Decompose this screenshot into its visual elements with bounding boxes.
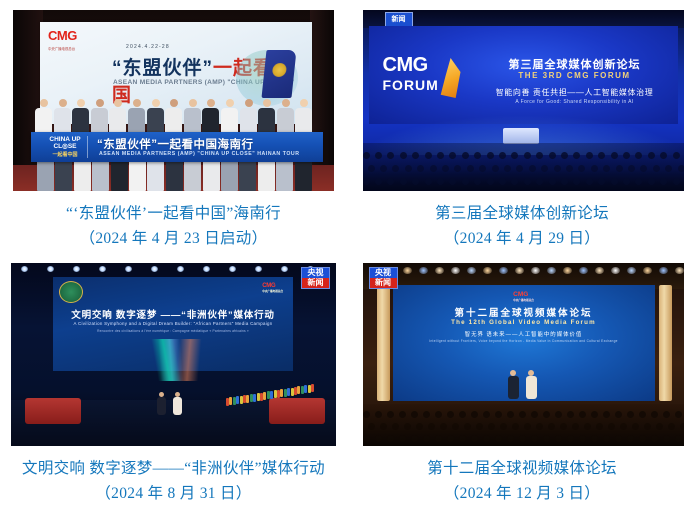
audience-head bbox=[555, 411, 562, 418]
audience-head bbox=[596, 423, 603, 430]
cmg-forum-logo-line2: FORUM bbox=[383, 77, 439, 93]
audience-head bbox=[639, 411, 646, 418]
audience-head bbox=[488, 423, 495, 430]
host-silhouette bbox=[508, 370, 519, 400]
audience-head bbox=[416, 423, 423, 430]
audience-head bbox=[400, 178, 407, 185]
audience-head bbox=[499, 152, 506, 159]
ceiling-lamp bbox=[435, 267, 444, 274]
audience-head bbox=[639, 435, 646, 442]
flag-dot bbox=[280, 389, 283, 397]
audience-head bbox=[428, 423, 435, 430]
led-screen: CMG 中央广播电视总台 第十二届全球视频媒体论坛 The 12th Globa… bbox=[393, 285, 655, 401]
audience-head bbox=[375, 435, 382, 442]
audience-silhouettes bbox=[363, 143, 684, 191]
audience-head bbox=[675, 411, 682, 418]
audience-head bbox=[579, 411, 586, 418]
audience-head bbox=[363, 435, 370, 442]
audience-head bbox=[437, 178, 444, 185]
audience-head bbox=[598, 152, 605, 159]
audience-head bbox=[512, 423, 519, 430]
audience-head bbox=[392, 423, 399, 430]
cmg-logo-subtext: 中央广播电视总台 bbox=[48, 43, 90, 56]
audience-head bbox=[640, 165, 647, 172]
stage-lamp bbox=[203, 266, 210, 272]
audience-head bbox=[507, 435, 514, 442]
ribbon-logo: CHINA UP CL◎SE 一起看中国 bbox=[43, 136, 88, 158]
audience-head bbox=[678, 165, 684, 172]
audience-head bbox=[673, 178, 680, 185]
ceiling-lamp bbox=[563, 267, 572, 274]
audience-head bbox=[627, 435, 634, 442]
audience-head bbox=[591, 435, 598, 442]
screen-title-en: A Civilization Symphony and a Digital Dr… bbox=[63, 321, 283, 326]
flag-dot bbox=[297, 386, 300, 394]
audience-head bbox=[536, 152, 543, 159]
audience-head bbox=[673, 152, 680, 159]
ceiling-lamp bbox=[675, 267, 684, 274]
audience-head bbox=[462, 152, 469, 159]
flag-dot bbox=[270, 391, 273, 399]
ribbon-logo-line3: 一起看中国 bbox=[43, 152, 87, 159]
flame-icon bbox=[439, 58, 461, 98]
audience-head bbox=[375, 178, 382, 185]
ceiling-lamp bbox=[451, 267, 460, 274]
audience-head bbox=[447, 411, 454, 418]
audience-head bbox=[524, 178, 531, 185]
audience-head bbox=[651, 411, 658, 418]
caption-third-cmg-forum: 第三届全球媒体创新论坛 （2024 年 4 月 29 日） bbox=[435, 201, 609, 251]
backdrop-title-blue: “东盟伙伴” bbox=[112, 58, 213, 79]
audience-head bbox=[573, 152, 580, 159]
audience-head bbox=[471, 435, 478, 442]
emblem-icon bbox=[59, 281, 83, 303]
led-screen: CMG 中央广播电视总台 文明交响 数字逐梦 ——“非洲伙伴”媒体行动 A Ci… bbox=[53, 277, 293, 371]
audience-head bbox=[412, 152, 419, 159]
cctv-news-watermark: 央视 新闻 bbox=[369, 267, 398, 289]
audience-head bbox=[479, 165, 486, 172]
watermark-line1: 央视 bbox=[308, 268, 324, 277]
audience-head bbox=[492, 165, 499, 172]
audience-head bbox=[459, 435, 466, 442]
audience-head bbox=[561, 178, 568, 185]
audience-silhouettes bbox=[363, 404, 684, 446]
gallery-cell-twelfth-global-video-media-forum: CMG 中央广播电视总台 第十二届全球视频媒体论坛 The 12th Globa… bbox=[347, 253, 697, 513]
audience-head bbox=[598, 178, 605, 185]
audience-head bbox=[442, 165, 449, 172]
stage-lamp bbox=[151, 266, 158, 272]
audience-head bbox=[425, 178, 432, 185]
audience-head bbox=[648, 152, 655, 159]
audience-head bbox=[423, 411, 430, 418]
ceiling-lamp bbox=[643, 267, 652, 274]
cmg-logo: CMG 中央广播电视总台 bbox=[48, 29, 90, 49]
cmg-forum-logo: CMG FORUM bbox=[383, 56, 457, 108]
ceiling-lamp bbox=[547, 267, 556, 274]
forum-theme-cn: 智无界 语未来——人工智能中的媒体价值 bbox=[393, 330, 655, 338]
audience-head bbox=[400, 152, 407, 159]
ceiling-lamp bbox=[419, 267, 428, 274]
caption-line2: （2024 年 4 月 29 日） bbox=[435, 226, 609, 251]
stage-lamp bbox=[47, 266, 54, 272]
audience-head bbox=[668, 423, 675, 430]
flag-dot bbox=[229, 397, 232, 405]
audience-head bbox=[603, 411, 610, 418]
audience-head bbox=[375, 411, 382, 418]
stage-lamp bbox=[125, 266, 132, 272]
caption-line2: （2024 年 8 月 31 日） bbox=[22, 481, 325, 506]
ribbon-logo-line1: CHINA bbox=[49, 136, 69, 143]
caption-line1: “‘东盟伙伴’一起看中国”海南行 bbox=[66, 205, 281, 222]
gallery-cell-africa-partners-media-action: CMG 中央广播电视总台 文明交响 数字逐梦 ——“非洲伙伴”媒体行动 A Ci… bbox=[0, 253, 347, 513]
audience-head bbox=[511, 152, 518, 159]
caption-line1: 第十二届全球视频媒体论坛 bbox=[427, 460, 617, 477]
audience-head bbox=[554, 165, 561, 172]
flag-dot bbox=[246, 395, 249, 403]
audience-head bbox=[591, 165, 598, 172]
audience-head bbox=[615, 435, 622, 442]
flag-dot bbox=[263, 392, 266, 400]
watermark-line2: 新闻 bbox=[302, 278, 329, 288]
caption-asean-hainan-tour: “‘东盟伙伴’一起看中国”海南行 （2024 年 4 月 23 日启动） bbox=[66, 201, 281, 251]
stage-lamp bbox=[255, 266, 262, 272]
audience-head bbox=[536, 423, 543, 430]
audience-head bbox=[430, 165, 437, 172]
flag-dot bbox=[253, 394, 256, 402]
audience-head bbox=[644, 423, 651, 430]
audience-head bbox=[665, 165, 672, 172]
audience-head bbox=[541, 165, 548, 172]
audience-head bbox=[623, 152, 630, 159]
audience-head bbox=[449, 152, 456, 159]
audience-head bbox=[573, 178, 580, 185]
forum-title-cn: 第十二届全球视频媒体论坛 bbox=[393, 305, 655, 319]
ceiling-lamp bbox=[611, 267, 620, 274]
audience-head bbox=[425, 152, 432, 159]
news-watermark-badge: 新闻 bbox=[385, 12, 413, 27]
ceiling-lamp bbox=[627, 267, 636, 274]
audience-head bbox=[459, 411, 466, 418]
audience-head bbox=[567, 411, 574, 418]
audience-head bbox=[656, 423, 663, 430]
stage-lamp bbox=[177, 266, 184, 272]
caption-line1: 第三届全球媒体创新论坛 bbox=[435, 205, 609, 222]
audience-head bbox=[536, 178, 543, 185]
cmg-logo-text: CMG bbox=[48, 28, 77, 43]
cmg-logo: CMG 中央广播电视总台 bbox=[262, 283, 283, 293]
stage-lamp bbox=[99, 266, 106, 272]
audience-head bbox=[549, 178, 556, 185]
caption-line2: （2024 年 12 月 3 日） bbox=[427, 481, 617, 506]
audience-head bbox=[387, 152, 394, 159]
led-screen: CMG FORUM 第三届全球媒体创新论坛 THE 3RD CMG FORUM … bbox=[369, 26, 678, 124]
column-right bbox=[659, 285, 672, 401]
audience-head bbox=[611, 152, 618, 159]
audience-head bbox=[663, 435, 670, 442]
audience-head bbox=[405, 165, 412, 172]
ceiling-lamp bbox=[579, 267, 588, 274]
audience-head bbox=[507, 411, 514, 418]
audience-head bbox=[452, 423, 459, 430]
cmg-forum-logo-line1: CMG bbox=[383, 54, 428, 76]
audience-head bbox=[363, 411, 370, 418]
audience-head bbox=[474, 152, 481, 159]
flag-dot bbox=[236, 396, 239, 404]
audience-head bbox=[623, 178, 630, 185]
gallery-cell-asean-hainan-tour: CMG 中央广播电视总台 2024.4.22-28 “东盟伙伴”一起看中国 AS… bbox=[0, 0, 347, 253]
caption-line1: 文明交响 数字逐梦——“非洲伙伴”媒体行动 bbox=[22, 460, 325, 477]
audience-head bbox=[548, 423, 555, 430]
host-silhouette bbox=[173, 392, 182, 416]
audience-head bbox=[519, 435, 526, 442]
audience-head bbox=[487, 178, 494, 185]
audience-head bbox=[660, 152, 667, 159]
caption-twelfth-global-video-media-forum: 第十二届全球视频媒体论坛 （2024 年 12 月 3 日） bbox=[427, 456, 617, 506]
audience-head bbox=[615, 411, 622, 418]
image-grid: CMG 中央广播电视总台 2024.4.22-28 “东盟伙伴”一起看中国 AS… bbox=[0, 0, 697, 513]
cmg-logo-subtext: 中央广播电视总台 bbox=[262, 289, 283, 293]
audience-head bbox=[387, 411, 394, 418]
ribbon-banner: CHINA UP CL◎SE 一起看中国 “东盟伙伴”一起看中国海南行 ASEA… bbox=[31, 132, 323, 162]
stage-lamp bbox=[21, 266, 28, 272]
cmg-logo: CMG 中央广播电视总台 bbox=[513, 291, 534, 302]
audience-head bbox=[524, 152, 531, 159]
light-rays-graphic bbox=[63, 339, 283, 381]
ribbon-title: “东盟伙伴”一起看中国海南行 bbox=[97, 136, 254, 152]
audience-head bbox=[519, 411, 526, 418]
forum-theme-en: Intelligent without Frontiers, Voice bey… bbox=[393, 339, 655, 343]
audience-head bbox=[632, 423, 639, 430]
audience-head bbox=[483, 435, 490, 442]
photo-cmg-forum-blue-stage[interactable]: 新闻 CMG FORUM 第三届全球媒体创新论坛 THE 3RD CMG FOR… bbox=[363, 10, 684, 191]
audience-head bbox=[462, 178, 469, 185]
audience-head bbox=[499, 178, 506, 185]
ceiling-lamp bbox=[515, 267, 524, 274]
audience-head bbox=[603, 165, 610, 172]
audience-head bbox=[423, 435, 430, 442]
forum-title-en: The 12th Global Video Media Forum bbox=[393, 319, 655, 326]
audience-head bbox=[578, 165, 585, 172]
ceiling-lamp bbox=[467, 267, 476, 274]
audience-head bbox=[380, 423, 387, 430]
audience-head bbox=[435, 435, 442, 442]
audience-lights bbox=[226, 380, 316, 406]
audience-head bbox=[368, 423, 375, 430]
screen-title-cn: 文明交响 数字逐梦 ——“非洲伙伴”媒体行动 bbox=[63, 307, 283, 321]
audience-head bbox=[660, 178, 667, 185]
audience-head bbox=[663, 411, 670, 418]
host-silhouette bbox=[157, 392, 166, 416]
cctv-news-watermark: 央视 新闻 bbox=[301, 267, 330, 289]
audience-head bbox=[399, 435, 406, 442]
audience-head bbox=[476, 423, 483, 430]
stage-side-decor bbox=[25, 398, 81, 424]
audience-head bbox=[392, 165, 399, 172]
audience-head bbox=[454, 165, 461, 172]
caption-line2: （2024 年 4 月 23 日启动） bbox=[66, 226, 281, 251]
caption-africa-partners-media-action: 文明交响 数字逐梦——“非洲伙伴”媒体行动 （2024 年 8 月 31 日） bbox=[22, 456, 325, 506]
host-silhouette bbox=[526, 370, 537, 400]
cmg-logo-subtext: 中央广播电视总台 bbox=[513, 298, 534, 302]
audience-head bbox=[399, 411, 406, 418]
audience-head bbox=[412, 178, 419, 185]
forum-title-en: THE 3RD CMG FORUM bbox=[475, 71, 675, 80]
audience-head bbox=[467, 165, 474, 172]
audience-head bbox=[474, 178, 481, 185]
ceiling-lamp bbox=[531, 267, 540, 274]
ceiling-lamp bbox=[499, 267, 508, 274]
photo-asean-partners-group-photo[interactable]: CMG 中央广播电视总台 2024.4.22-28 “东盟伙伴”一起看中国 AS… bbox=[13, 10, 334, 191]
podium bbox=[503, 128, 539, 144]
audience-head bbox=[628, 165, 635, 172]
audience-head bbox=[603, 435, 610, 442]
ceiling-lamp bbox=[595, 267, 604, 274]
screen-title-fr: Rencontre des civilisations à l'ère numé… bbox=[63, 329, 283, 333]
flag-graphic bbox=[261, 50, 296, 98]
audience-head bbox=[543, 411, 550, 418]
audience-head bbox=[363, 178, 370, 185]
audience-head bbox=[586, 152, 593, 159]
audience-head bbox=[464, 423, 471, 430]
audience-head bbox=[543, 435, 550, 442]
flag-dot bbox=[304, 385, 307, 393]
audience-head bbox=[471, 411, 478, 418]
audience-head bbox=[447, 435, 454, 442]
audience-head bbox=[531, 411, 538, 418]
audience-head bbox=[653, 165, 660, 172]
photo-global-video-media-forum-stage[interactable]: CMG 中央广播电视总台 第十二届全球视频媒体论坛 The 12th Globa… bbox=[363, 263, 684, 446]
audience-head bbox=[363, 152, 370, 159]
audience-head bbox=[495, 411, 502, 418]
audience-head bbox=[487, 152, 494, 159]
audience-head bbox=[435, 411, 442, 418]
forum-title-cn: 第三届全球媒体创新论坛 bbox=[475, 56, 675, 72]
audience-head bbox=[616, 165, 623, 172]
audience-head bbox=[437, 152, 444, 159]
stage-lamp bbox=[73, 266, 80, 272]
audience-head bbox=[680, 423, 684, 430]
audience-head bbox=[586, 178, 593, 185]
audience-head bbox=[608, 423, 615, 430]
audience-head bbox=[483, 411, 490, 418]
flag-dot bbox=[287, 388, 290, 396]
cmg-logo-text: CMG bbox=[513, 291, 528, 298]
audience-head bbox=[504, 165, 511, 172]
image-gallery-page: CMG 中央广播电视总台 2024.4.22-28 “东盟伙伴”一起看中国 AS… bbox=[0, 0, 697, 519]
audience-head bbox=[531, 435, 538, 442]
stage-lamp bbox=[281, 266, 288, 272]
audience-head bbox=[387, 435, 394, 442]
audience-head bbox=[675, 435, 682, 442]
stage-lamp bbox=[229, 266, 236, 272]
audience-head bbox=[500, 423, 507, 430]
audience-head bbox=[635, 178, 642, 185]
audience-head bbox=[560, 423, 567, 430]
watermark-line1: 央视 bbox=[375, 268, 391, 277]
audience-head bbox=[387, 178, 394, 185]
audience-head bbox=[440, 423, 447, 430]
audience-head bbox=[566, 165, 573, 172]
audience-head bbox=[417, 165, 424, 172]
audience-head bbox=[549, 152, 556, 159]
audience-head bbox=[611, 178, 618, 185]
audience-head bbox=[561, 152, 568, 159]
audience-head bbox=[511, 178, 518, 185]
audience-head bbox=[620, 423, 627, 430]
audience-head bbox=[368, 165, 375, 172]
stage-floor bbox=[11, 400, 336, 446]
flag-dot bbox=[311, 384, 314, 392]
audience-head bbox=[579, 435, 586, 442]
audience-head bbox=[411, 411, 418, 418]
audience-head bbox=[380, 165, 387, 172]
audience-head bbox=[627, 411, 634, 418]
audience-head bbox=[555, 435, 562, 442]
watermark-line2: 新闻 bbox=[370, 278, 397, 288]
column-left bbox=[377, 285, 390, 401]
audience-head bbox=[651, 435, 658, 442]
audience-head bbox=[529, 165, 536, 172]
audience-head bbox=[449, 178, 456, 185]
backdrop-date: 2024.4.22-28 bbox=[126, 44, 170, 50]
forum-theme-cn: 智能向善 责任共担——人工智能媒体治理 bbox=[475, 87, 675, 98]
photo-africa-partners-stage[interactable]: CMG 中央广播电视总台 文明交响 数字逐梦 ——“非洲伙伴”媒体行动 A Ci… bbox=[11, 263, 336, 446]
audience-head bbox=[516, 165, 523, 172]
audience-head bbox=[635, 152, 642, 159]
ceiling-lamp bbox=[483, 267, 492, 274]
ceiling-lamp bbox=[403, 267, 412, 274]
audience-head bbox=[584, 423, 591, 430]
audience-head bbox=[411, 435, 418, 442]
audience-head bbox=[572, 423, 579, 430]
ribbon-subtitle: ASEAN MEDIA PARTNERS (AMP) "CHINA UP CLO… bbox=[99, 151, 300, 157]
audience-head bbox=[648, 178, 655, 185]
ceiling-lamp bbox=[659, 267, 668, 274]
gallery-cell-third-cmg-forum: 新闻 CMG FORUM 第三届全球媒体创新论坛 THE 3RD CMG FOR… bbox=[347, 0, 697, 253]
audience-head bbox=[375, 152, 382, 159]
audience-head bbox=[524, 423, 531, 430]
audience-head bbox=[591, 411, 598, 418]
audience-head bbox=[495, 435, 502, 442]
audience-head bbox=[404, 423, 411, 430]
audience-head bbox=[567, 435, 574, 442]
forum-theme-en: A Force for Good: Shared Responsibility … bbox=[475, 99, 675, 105]
